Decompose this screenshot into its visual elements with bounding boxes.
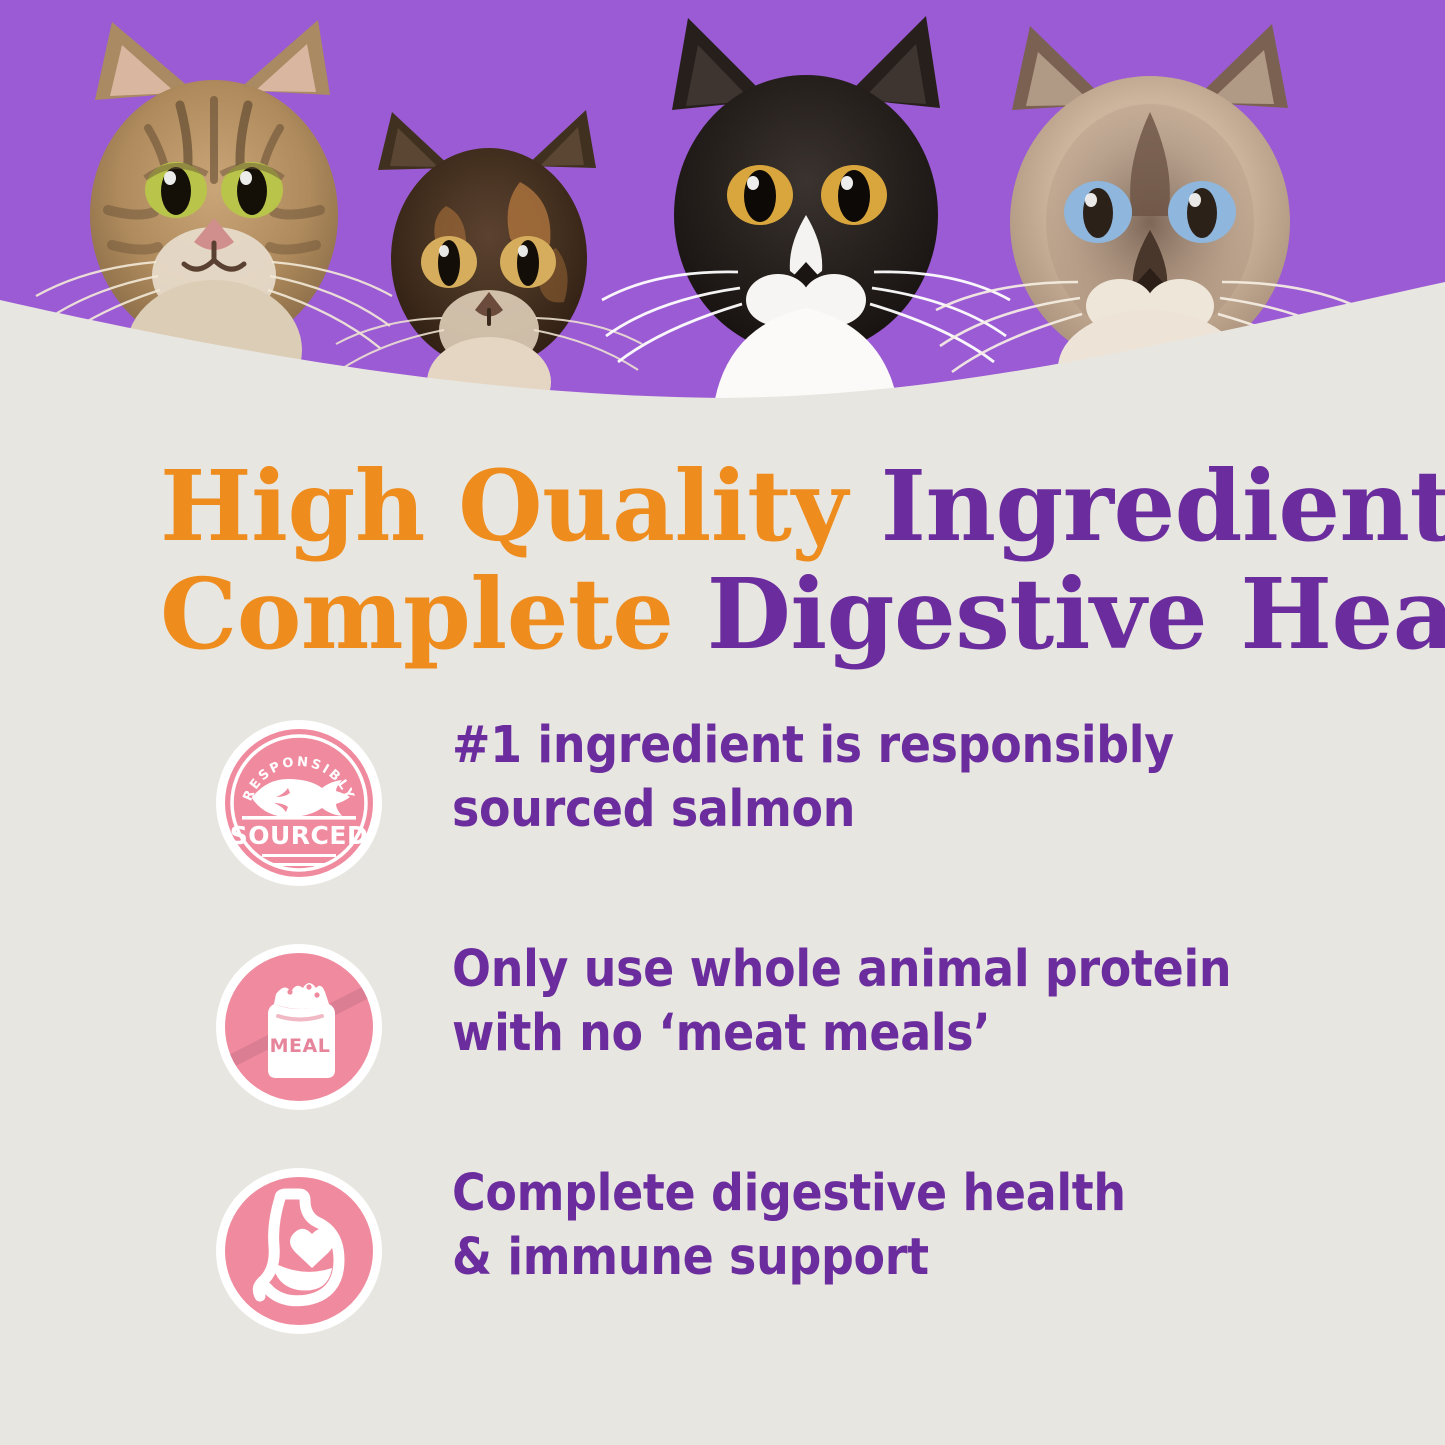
headline-line-1: High Quality Ingredients. [160,452,1340,560]
hero-cat-illustration [0,0,1445,400]
feature-item: RESPONSIBLY SOURCED [0,720,1445,944]
headline-line-2-orange: Complete [160,557,707,671]
headline-line-2: Complete Digestive Health. [160,560,1340,668]
cat-face-seal-point-ragdoll [936,24,1364,400]
feature-text-line: Complete digestive health [452,1162,1292,1226]
responsibly-sourced-fish-badge-icon: RESPONSIBLY SOURCED [216,720,382,886]
headline: High Quality Ingredients. Complete Diges… [160,452,1340,668]
feature-text-line: sourced salmon [452,778,1292,842]
stomach-heart-digestive-health-icon [216,1168,382,1334]
feature-list: RESPONSIBLY SOURCED [0,720,1445,1392]
feature-item: Complete digestive health & immune suppo… [0,1168,1445,1392]
feature-item: MEAL Only use whole animal protein with … [0,944,1445,1168]
cat-face-tortoiseshell-kitten [336,110,642,400]
headline-line-1-orange: High Quality [160,449,881,563]
feature-text: Only use whole animal protein with no ‘m… [452,938,1292,1066]
marketing-infographic: High Quality Ingredients. Complete Diges… [0,0,1445,1445]
feature-text-line: Only use whole animal protein [452,938,1292,1002]
cat-face-black-tuxedo [602,16,1010,400]
hero-banner [0,0,1445,400]
feature-text: Complete digestive health & immune suppo… [452,1162,1292,1290]
feature-text: #1 ingredient is responsibly sourced sal… [452,714,1292,842]
feature-text-line: & immune support [452,1226,1292,1290]
fish-icon [252,779,350,817]
headline-line-2-purple: Digestive Health. [707,557,1445,671]
feature-text-line: with no ‘meat meals’ [452,1002,1292,1066]
meal-sack-icon: MEAL [268,983,335,1078]
feature-text-line: #1 ingredient is responsibly [452,714,1292,778]
no-meat-meal-sack-icon: MEAL [216,944,382,1110]
headline-line-1-purple: Ingredients. [881,449,1445,563]
sack-label: MEAL [270,1035,331,1057]
badge-main-text: SOURCED [230,821,369,850]
